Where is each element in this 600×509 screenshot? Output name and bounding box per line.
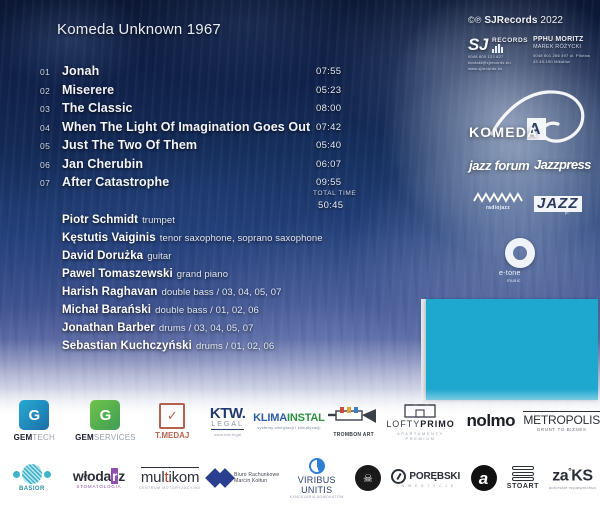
musician-name: Pawel Tomaszewski <box>62 268 173 280</box>
track-number: 05 <box>40 141 62 151</box>
track-row: 07 After Catastrophe <box>40 175 340 194</box>
ktw-wordmark: KTW. <box>210 406 246 421</box>
credit-row: Piotr Schmidttrumpet <box>62 210 323 228</box>
label-name: SJRecords <box>484 15 537 26</box>
gemservices-label-strong: GEM <box>75 433 94 442</box>
wlodarz-logo: włodarz STOMATOLOGIA <box>64 468 134 489</box>
sjrecords-logo: SJ <box>468 36 488 53</box>
moritz-subtitle: MAREK RÓŻYCKI <box>533 44 581 50</box>
track-duration: 07:42 <box>316 122 341 141</box>
album-title: Komeda Unknown 1967 <box>57 21 221 38</box>
credit-row: Harish Raghavandouble bass / 03, 04, 05,… <box>62 282 323 300</box>
tmedaj-label: T.MEDAJ <box>155 431 189 440</box>
musician-role: double bass / 01, 02, 06 <box>155 305 259 316</box>
loftyprimo-subtitle: APARTAMENTY PREMIUM <box>383 431 459 441</box>
multikom-logo: multikom CENTRUM MOTORYZACYJNE <box>134 467 206 490</box>
jazz-pl-logo: JAZZ <box>534 196 582 212</box>
musician-name: Michał Barański <box>62 304 151 316</box>
gemtech-label: GEMTECH <box>14 433 55 442</box>
sjrecords-wordmark: RECORDS <box>492 37 528 44</box>
jazz-forum-logo: jazz forum <box>469 158 529 173</box>
gemtech-label-dim: TECH <box>32 433 55 442</box>
track-duration: 06:07 <box>316 159 341 178</box>
cyan-sticker-overlay <box>426 299 598 400</box>
sponsor-row-2: BASIOR włodarz STOMATOLOGIA multikom CEN… <box>0 450 600 506</box>
copyright-symbols: ©℗ <box>468 15 481 25</box>
porebski-wordmark: PORĘBSKI <box>409 471 460 482</box>
album-back-cover: Komeda Unknown 1967 01 Jonah 02 Miserere… <box>0 0 600 509</box>
etone-subtitle: music <box>507 278 521 283</box>
jazz-pl-suffix: pl <box>565 210 569 215</box>
track-title: Jonah <box>62 64 99 78</box>
track-number: 07 <box>40 178 62 188</box>
klima-part-a: KLIMA <box>253 412 287 424</box>
komeda-wordmark: KOMEDA <box>469 124 538 140</box>
gemtech-label-strong: GEM <box>14 433 33 442</box>
credit-row: Sebastian Kuchczyńskidrums / 01, 02, 06 <box>62 336 323 354</box>
jazzpress-logo: Jazzpress <box>534 157 591 172</box>
basior-dots-icon <box>13 464 51 484</box>
porebski-logo: PORĘBSKI I N W E S T Y C J E <box>385 469 465 488</box>
multikom-part-a: mul <box>141 469 165 486</box>
multikom-wordmark: multikom <box>141 467 199 486</box>
musician-role: tenor saxophone, soprano saxophone <box>160 233 323 244</box>
track-number: 03 <box>40 104 62 114</box>
copyright-year: 2022 <box>540 15 563 26</box>
basior-logo: BASIOR <box>0 464 64 492</box>
copyright-line: ©℗ SJRecords 2022 <box>468 15 563 26</box>
porebski-row: PORĘBSKI <box>391 469 460 484</box>
credit-row: David Dorużkaguitar <box>62 246 323 264</box>
gem-diamond-icon: G <box>19 400 49 430</box>
track-duration: 05:23 <box>316 85 341 104</box>
stoart-wordmark: STOART <box>507 483 539 490</box>
musician-role: drums / 03, 04, 05, 07 <box>159 323 254 334</box>
radiojazz-logo: radiojazz <box>473 192 523 211</box>
viribus-wordmark: VIRIBUS UNITIS <box>283 475 350 495</box>
stoart-stack-icon <box>512 466 534 481</box>
credit-row: Jonathan Barberdrums / 03, 04, 05, 07 <box>62 318 323 336</box>
klima-part-b: INSTAL <box>287 412 325 424</box>
track-row: 01 Jonah <box>40 64 340 83</box>
track-number: 02 <box>40 86 62 96</box>
track-title: Miserere <box>62 83 114 97</box>
musician-name: David Dorużka <box>62 250 143 262</box>
credit-row: Michał Barańskidouble bass / 01, 02, 06 <box>62 300 323 318</box>
wlodarz-wordmark: włodarz <box>73 468 125 484</box>
nolmo-wordmark: nolmo <box>467 411 516 431</box>
ktw-legal-logo: KTW. LEGAL www.ktw.legal <box>202 406 253 437</box>
track-number: 01 <box>40 67 62 77</box>
track-number: 04 <box>40 123 62 133</box>
musician-role: grand piano <box>177 269 228 280</box>
wlodarz-part-b: z <box>118 468 125 484</box>
trumpet-icon <box>326 405 382 431</box>
biuro-text: Biuro Rachunkowe Marcin Kołtun <box>234 472 279 484</box>
porebski-circle-icon <box>391 469 406 484</box>
trumpet-art-logo: TROMBON ART <box>325 405 383 438</box>
zaks-part-a: za <box>552 467 568 484</box>
trumpet-art-label: TROMBON ART <box>333 432 374 438</box>
klimainstal-logo: KLIMAINSTAL systemy wentylacji i klimaty… <box>253 412 325 430</box>
a-mark-logo: a <box>466 465 501 491</box>
crest-icon: ☠ <box>355 465 381 491</box>
metropolis-logo: METROPOLIS GRUNT TO BIZNES <box>523 411 600 432</box>
moritz-title: PPHU MORITZ <box>533 36 583 43</box>
klimainstal-subtitle: systemy wentylacji i klimatyzacji <box>257 425 320 430</box>
lofty-part-a: LOFTY <box>386 419 420 429</box>
track-title: When The Light Of Imagination Goes Out <box>62 120 310 134</box>
biuro-line-2: Marcin Kołtun <box>234 478 279 484</box>
track-durations: 07:55 05:23 08:00 07:42 05:40 06:07 09:5… <box>316 66 341 196</box>
zaks-wordmark: za°KS <box>552 466 592 485</box>
track-title: Just The Two Of Them <box>62 138 197 152</box>
musician-name: Jonathan Barber <box>62 322 155 334</box>
diamond-pair-icon <box>210 471 230 485</box>
viribus-unitis-logo: VIRIBUS UNITIS KANCELARIA ADWOKATÓW <box>283 458 350 499</box>
musician-name: Sebastian Kuchczyński <box>62 340 192 352</box>
crest-logo: ☠ <box>350 465 385 491</box>
musician-name: Kęstutis Vaiginis <box>62 232 156 244</box>
loft-building-icon <box>403 401 437 419</box>
musician-role: drums / 01, 02, 06 <box>196 341 274 352</box>
loftyprimo-wordmark: LOFTYPRIMO <box>386 419 455 429</box>
track-row: 03 The Classic <box>40 101 340 120</box>
nolmo-logo: nolmo <box>458 411 523 431</box>
etone-music-logo: e-tone music <box>505 238 535 268</box>
musician-name: Harish Raghavan <box>62 286 157 298</box>
wlodarz-part-a: włoda <box>73 468 111 484</box>
track-duration: 07:55 <box>316 66 341 85</box>
track-title: Jan Cherubin <box>62 157 143 171</box>
a-circle-icon: a <box>471 465 497 491</box>
credit-row: Pawel Tomaszewskigrand piano <box>62 264 323 282</box>
multikom-part-b: ikom <box>168 469 199 486</box>
musician-credits: Piotr Schmidttrumpet Kęstutis Vaiginiste… <box>62 210 323 354</box>
wlodarz-subtitle: STOMATOLOGIA <box>76 484 121 489</box>
zaks-part-b: KS <box>571 467 592 484</box>
stoart-logo: STOART <box>501 466 545 490</box>
etone-ring-icon <box>505 238 535 268</box>
sponsor-row-1: G GEMTECH G GEMSERVICES ✓ T.MEDAJ KTW. L… <box>0 392 600 450</box>
radiojazz-wordmark: radiojazz <box>473 205 523 211</box>
tmedaj-logo: ✓ T.MEDAJ <box>142 403 202 440</box>
credit-row: Kęstutis Vaiginistenor saxophone, sopran… <box>62 228 323 246</box>
sjrecords-bars-icon <box>492 44 503 53</box>
metropolis-subtitle: GRUNT TO BIZNES <box>537 427 587 432</box>
checkmark-icon: ✓ <box>159 403 185 429</box>
radio-wave-icon <box>473 192 523 204</box>
biuro-rachunkowe-logo: Biuro Rachunkowe Marcin Kołtun <box>206 471 283 485</box>
track-title: The Classic <box>62 101 133 115</box>
sjrecords-address: 0048 605 123 627 kontakt@sjrecords.eu ww… <box>468 54 528 72</box>
viribus-subtitle: KANCELARIA ADWOKATÓW <box>290 495 344 499</box>
viribus-swirl-icon <box>309 458 325 474</box>
musician-name: Piotr Schmidt <box>62 214 138 226</box>
ktw-url: www.ktw.legal <box>214 432 242 437</box>
gemservices-logo: G GEMSERVICES <box>69 400 143 442</box>
musician-role: double bass / 03, 04, 05, 07 <box>161 287 281 298</box>
track-number: 06 <box>40 160 62 170</box>
total-time-label: TOTAL TIME <box>313 190 356 197</box>
track-row: 02 Miserere <box>40 83 340 102</box>
zaks-logo: za°KS autorskie wydawnictwa <box>545 466 600 490</box>
gem-diamond-icon: G <box>90 400 120 430</box>
musician-role: trumpet <box>142 215 175 226</box>
porebski-subtitle: I N W E S T Y C J E <box>397 484 455 488</box>
track-title: After Catastrophe <box>62 175 169 189</box>
klimainstal-wordmark: KLIMAINSTAL <box>253 412 325 424</box>
track-duration: 05:40 <box>316 140 341 159</box>
track-row: 05 Just The Two Of Them <box>40 138 340 157</box>
zaks-subtitle: autorskie wydawnictwa <box>549 485 596 490</box>
multikom-subtitle: CENTRUM MOTORYZACYJNE <box>139 486 201 490</box>
gemservices-label: GEMSERVICES <box>75 433 136 442</box>
etone-wordmark: e-tone <box>499 270 521 277</box>
moritz-address: 0048 601 266 497 ul. Pilotów 43 45-150 M… <box>533 53 595 65</box>
lofty-part-b: PRIMO <box>420 419 455 429</box>
gemservices-label-dim: SERVICES <box>94 433 136 442</box>
ktw-subtitle: LEGAL <box>211 421 244 430</box>
track-row: 06 Jan Cherubin <box>40 157 340 176</box>
tracklist: 01 Jonah 02 Miserere 03 The Classic 04 W… <box>40 64 340 194</box>
loftyprimo-logo: LOFTYPRIMO APARTAMENTY PREMIUM <box>383 401 459 441</box>
metropolis-wordmark: METROPOLIS <box>523 411 600 427</box>
basior-label: BASIOR <box>19 486 45 492</box>
track-row: 04 When The Light Of Imagination Goes Ou… <box>40 120 340 139</box>
gemtech-logo: G GEMTECH <box>0 400 69 442</box>
track-duration: 08:00 <box>316 103 341 122</box>
musician-role: guitar <box>147 251 171 262</box>
